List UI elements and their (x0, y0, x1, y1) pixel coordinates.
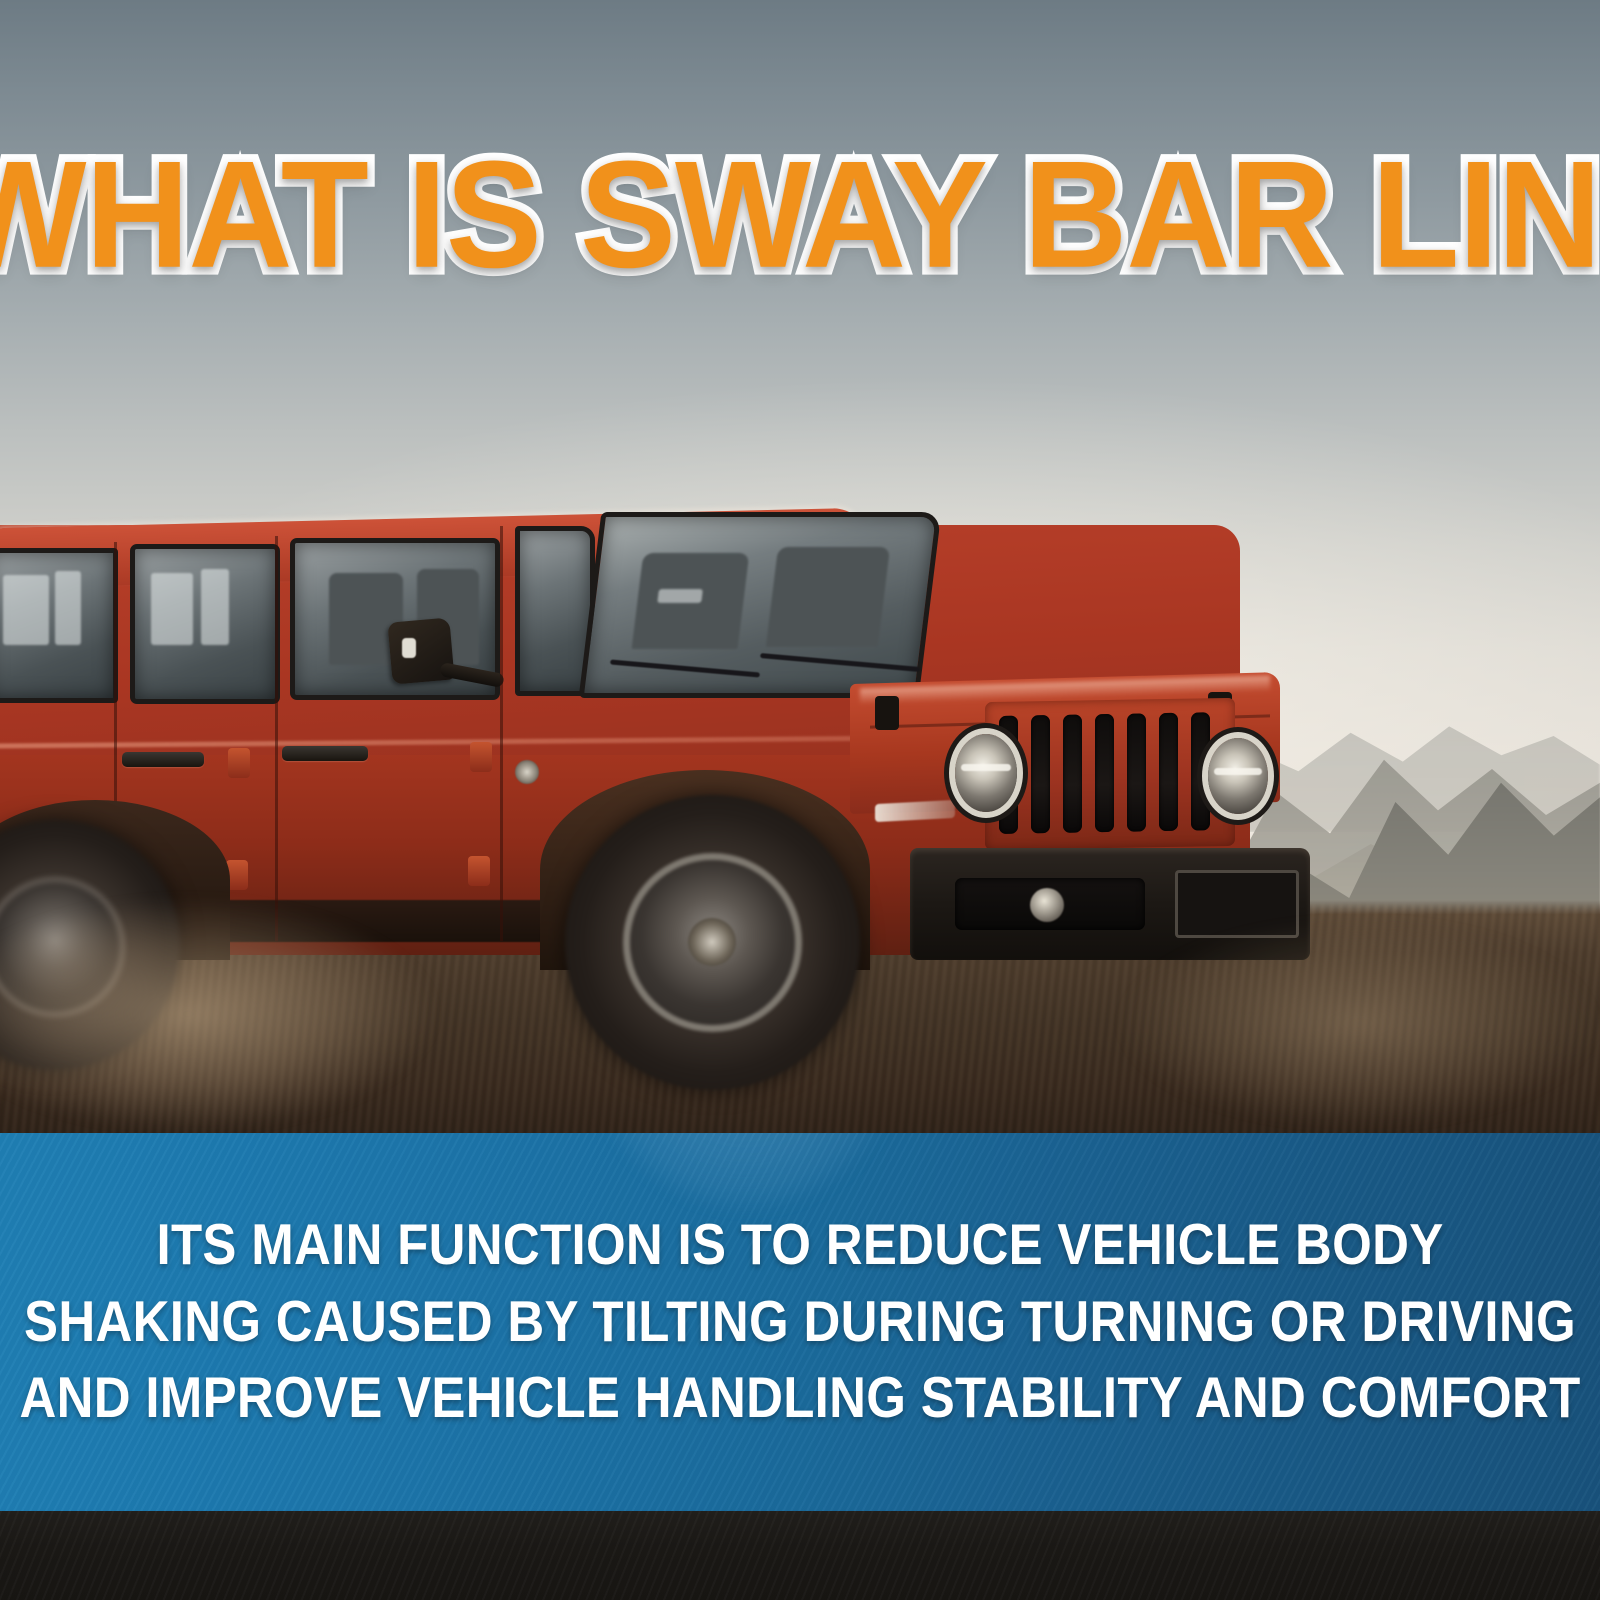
description-line-1: ITS MAIN FUNCTION IS TO REDUCE VEHICLE B… (156, 1206, 1443, 1285)
description-banner: ITS MAIN FUNCTION IS TO REDUCE VEHICLE B… (0, 1133, 1600, 1511)
grille-slot (1095, 714, 1114, 832)
door-handle-rear (122, 752, 204, 767)
door-hinge-front-upper (470, 742, 492, 772)
fuel-filler-cap (515, 760, 539, 784)
bottom-strip-texture (0, 1511, 1600, 1600)
description-line-3: AND IMPROVE VEHICLE HANDLING STABILITY A… (19, 1359, 1580, 1438)
rear-quarter-window (0, 548, 118, 703)
dust-cloud-front (1050, 880, 1600, 1140)
seven-slot-grille (985, 698, 1235, 850)
description-text-block: ITS MAIN FUNCTION IS TO REDUCE VEHICLE B… (0, 1133, 1600, 1511)
bottom-dark-strip (0, 1511, 1600, 1600)
rear-door-window (130, 544, 280, 704)
front-wheel-hub (688, 918, 736, 966)
grille-slot (1063, 714, 1082, 832)
windshield (579, 512, 942, 698)
grille-slot (1159, 713, 1178, 831)
hood-latch-left (875, 696, 899, 730)
grille-slot (1031, 715, 1050, 833)
mirror-glint (402, 638, 416, 658)
poster-canvas: WHAT IS SWAY BAR LINK ITS MAIN FUNCTION … (0, 0, 1600, 1600)
dust-cloud-rear (0, 860, 560, 1140)
door-handle-front (282, 746, 368, 761)
description-line-2: SHAKING CAUSED BY TILTING DURING TURNING… (24, 1283, 1576, 1362)
headlight-right (1208, 738, 1268, 814)
headlight-left (955, 734, 1017, 812)
grille-slot (1127, 713, 1146, 831)
door-hinge-rear-upper (228, 748, 250, 778)
